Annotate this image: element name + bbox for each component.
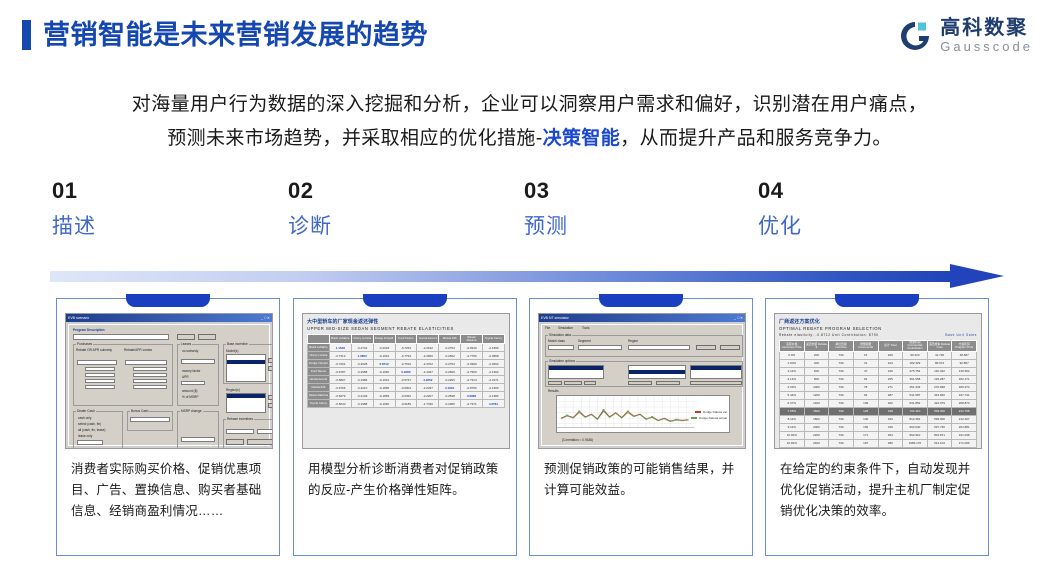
- matrix-cell: -0.8340: [461, 344, 483, 352]
- table-row: 10.02%2200790171364992.910801.871191.038: [780, 431, 977, 439]
- optimal-cell: 187: [853, 439, 878, 447]
- optimal-cell: 255: [878, 375, 903, 383]
- optimal-cell: 8.11%: [780, 415, 805, 423]
- select-purchase-2[interactable]: [125, 360, 167, 365]
- optimal-cell: 790: [829, 415, 854, 423]
- group-label-purchases: Purchases: [76, 342, 93, 346]
- optimal-cell: 1083.170: [903, 439, 928, 447]
- clear-button[interactable]: [226, 439, 244, 445]
- step-label: 描述: [52, 212, 252, 242]
- title-label: 营销智能是未来营销发展的趋势: [43, 20, 428, 50]
- matrix-cell: -2.2606: [417, 352, 439, 360]
- matrix-cell: -2.0602: [483, 360, 505, 368]
- matrix-cell: -0.5747: [395, 376, 417, 384]
- card-caption: 预测促销政策的可能销售结果，并计算可能效益。: [544, 459, 740, 501]
- matrix-cell: -2.2207: [417, 392, 439, 400]
- step-label: 优化: [758, 212, 958, 242]
- matrix-cell: -0.1660: [373, 400, 395, 408]
- get-data-button[interactable]: [696, 345, 716, 350]
- table-row: 11.84%26007902023951173.4391028.743144.6…: [780, 447, 977, 449]
- optimal-cell: 451.333: [903, 383, 928, 391]
- matrix-cell: -0.2018: [373, 344, 395, 352]
- graph-button[interactable]: [690, 381, 742, 385]
- card-optimize[interactable]: 厂商返还方案优化 OPTIMAL REBATE PROGRAM SELECTIO…: [765, 298, 989, 556]
- input-24mo-b[interactable]: [133, 367, 167, 371]
- select-rebase-model[interactable]: [226, 429, 254, 434]
- option-money-factor[interactable]: money factor: [182, 369, 200, 373]
- optimal-cell: 1600: [804, 407, 829, 415]
- logo-text-cn: 高科数聚: [940, 18, 1033, 39]
- matrix-col-header: Dodge Intrepid: [373, 335, 395, 344]
- table-row: 9.11%2000790156349902.640697.736204.881: [780, 423, 977, 431]
- optimal-cell: 790: [829, 399, 854, 407]
- card-tab-accent: [599, 294, 683, 307]
- table-row: Dodge Intrepid-0.7204-0.20280.8712-0.751…: [308, 360, 505, 368]
- table-row: 1.00%40079031224182.32989.67292.857: [780, 359, 977, 367]
- optimal-cell: 790: [829, 383, 854, 391]
- optimal-cell: 790: [829, 359, 854, 367]
- group-label-regions: Region(s): [226, 388, 240, 392]
- legend-label-est: Dodge Dakota est: [703, 410, 727, 414]
- brand-logo: 高科数聚 Gausscode: [897, 18, 1033, 54]
- page-title: 营销智能是未来营销发展的趋势: [22, 20, 428, 50]
- step-item-04: 04 优化: [758, 178, 958, 242]
- legend-item-est: Dodge Dakota est: [695, 410, 727, 414]
- optimal-cell: 109: [853, 399, 878, 407]
- optimal-cell: 270.848: [927, 383, 952, 391]
- window-title: EVB scenario: [68, 316, 89, 320]
- field-label-rebate-apr: Rebate OR APR subvedy: [76, 348, 112, 352]
- input-program-name[interactable]: [73, 334, 169, 340]
- clear-all-models-button[interactable]: [268, 366, 273, 371]
- chart-svg: [557, 396, 729, 432]
- matrix-cell: -2.1660: [483, 384, 505, 392]
- optimal-cell: 171: [853, 431, 878, 439]
- optimal-cell: 208.873: [952, 399, 977, 407]
- select-all-button[interactable]: [628, 381, 652, 385]
- select-rebase-region[interactable]: [257, 429, 273, 434]
- matrix-cell: 4.3252: [417, 376, 439, 384]
- matrix-cell: -0.1869: [373, 392, 395, 400]
- restore-environment-button[interactable]: [247, 439, 273, 445]
- matrix-col-header: Buick LeSabre: [329, 335, 351, 344]
- optimal-cell: 90.320: [903, 351, 928, 359]
- optimal-cell: 364: [878, 431, 903, 439]
- optimal-col-header: 增量利润 Incremental Contribution: [903, 341, 928, 352]
- matrix-cell: -0.6766: [329, 384, 351, 392]
- list-scenarios[interactable]: [548, 365, 604, 379]
- optimal-col-header: 单位贡献 Incentive: [829, 341, 854, 352]
- optimal-cell: 9.11%: [780, 423, 805, 431]
- optimal-cell: 200: [804, 351, 829, 359]
- input-36mo-a[interactable]: [85, 373, 115, 377]
- optimal-cell: 790: [829, 375, 854, 383]
- input-48mo-a[interactable]: [85, 379, 115, 383]
- card-predict[interactable]: EVB NT simulator_ □ ✕ File Simulation To…: [529, 298, 753, 556]
- matrix-cell: -0.7204: [329, 360, 351, 368]
- save-button[interactable]: [177, 334, 195, 340]
- legend-item-actual: Dodge Dakota actual: [691, 416, 727, 420]
- optimal-cell: 180.374: [952, 383, 977, 391]
- screenshot-program-dialog: EVB scenario_ □ ✕ Program Description Pu…: [65, 313, 273, 449]
- menu-simulation[interactable]: Simulation: [558, 326, 573, 330]
- optimal-cell: 209: [878, 351, 903, 359]
- card-list: EVB scenario_ □ ✕ Program Description Pu…: [0, 298, 1051, 560]
- matrix-cell: -0.7371: [461, 400, 483, 408]
- optimal-cell: 509.300: [927, 407, 952, 415]
- matrix-cell: 1.2823: [351, 352, 373, 360]
- optimal-cell: 7.55%: [780, 407, 805, 415]
- option-amount[interactable]: amount ($): [182, 389, 197, 393]
- optimal-cell: 6.37%: [780, 399, 805, 407]
- optimal-cell: 395: [878, 447, 903, 449]
- optimal-cell: 992.910: [903, 431, 928, 439]
- clear-all-button[interactable]: [656, 381, 680, 385]
- matrix-col-header: Chevy Lumina: [351, 335, 373, 344]
- add-button[interactable]: [548, 381, 562, 385]
- optimal-cell: 197.741: [952, 391, 977, 399]
- matrix-cell: 2.1091: [439, 384, 461, 392]
- edit-button[interactable]: [584, 381, 596, 385]
- matrix-cell: -0.7313: [329, 352, 351, 360]
- optimal-cell: 422.979: [927, 399, 952, 407]
- optimal-cell: 136.502: [952, 367, 977, 375]
- optimal-cell: 800: [804, 375, 829, 383]
- option-select-cash-fin[interactable]: select (cash, fin): [78, 422, 101, 426]
- matrix-cell: -0.8766: [461, 384, 483, 392]
- table-row: Ford Taurus-0.6787-0.2588-0.19600.9480-2…: [308, 368, 505, 376]
- table-row: Buick LeSabre1.1548-0.2742-0.2018-0.7254…: [308, 344, 505, 352]
- legend-swatch-est: [695, 411, 701, 413]
- optimal-col-header: 增量销量 Incremental: [853, 341, 878, 352]
- matrix-row-header: Honda Accord: [308, 376, 330, 384]
- matrix-cell: -0.7254: [395, 344, 417, 352]
- label-region: Region: [628, 339, 638, 343]
- matrix-cell: 1.1548: [329, 344, 351, 352]
- screenshot-optimal-rebate: 厂商返还方案优化 OPTIMAL REBATE PROGRAM SELECTIO…: [774, 313, 982, 449]
- optimal-cell: 182.329: [903, 359, 928, 367]
- select-dealer-cash[interactable]: [77, 440, 103, 445]
- select-model-class[interactable]: [548, 345, 574, 350]
- optimal-cell: 48.687: [952, 351, 977, 359]
- card-tab-accent: [363, 294, 447, 307]
- matrix-row-header: Ford Taurus: [308, 368, 330, 376]
- gausscode-g-logo-icon: [897, 18, 933, 54]
- label-model-class: Model class: [548, 339, 565, 343]
- optimal-cell: 140.342: [927, 367, 952, 375]
- optimal-cell: 361.058: [903, 375, 928, 383]
- optimal-cell: 10.02%: [780, 431, 805, 439]
- optimal-cell: 11.84%: [780, 447, 805, 449]
- matrix-row-header: Buick LeSabre: [308, 344, 330, 352]
- card-caption: 消费者实际购买价格、促销优惠项目、广告、置换信息、购买者基础信息、经销商盈利情况…: [71, 459, 267, 522]
- select-region[interactable]: [628, 345, 690, 350]
- optimal-cell: 790: [829, 351, 854, 359]
- optimal-col-header: 实际价格 Consumer Price: [780, 341, 805, 352]
- optimal-cell: 333: [878, 415, 903, 423]
- optimal-cell: 224: [878, 359, 903, 367]
- clear-all-regions-button[interactable]: [268, 403, 273, 408]
- matrix-cell: -0.5640: [329, 400, 351, 408]
- menu-file[interactable]: File: [545, 326, 550, 330]
- matrix-col-header: Toyota Camry: [483, 335, 505, 344]
- card-diagnose[interactable]: 大中型轿车的厂家现金返还弹性 UPPER MID-SIZE SEDAN SEGM…: [293, 298, 517, 556]
- step-number: 02: [288, 178, 488, 204]
- optimal-cell: 790: [829, 439, 854, 447]
- group-label-results: Results: [548, 389, 559, 393]
- option-apr[interactable]: APR: [182, 375, 189, 379]
- step-number: 01: [52, 178, 252, 204]
- matrix-row-header: Mazda 626: [308, 384, 330, 392]
- title-accent-bar: [22, 20, 31, 50]
- legend-swatch-actual: [691, 417, 697, 419]
- matrix-cell: -0.7766: [461, 352, 483, 360]
- optimal-cell: 204.881: [952, 423, 977, 431]
- group-label-rebase-incentives: Rebase incentives: [226, 417, 254, 421]
- optimal-cell: 599.906: [927, 415, 952, 423]
- matrix-cell: -0.2794: [439, 360, 461, 368]
- optimal-title-cn: 厂商返还方案优化: [779, 318, 977, 325]
- matrix-cell: -2.3702: [417, 360, 439, 368]
- optimal-meta-left: Rebate elasticity: -0.8712 Unit Contribu…: [779, 333, 878, 337]
- optimal-cell: 541.587: [903, 391, 928, 399]
- select-segment[interactable]: [578, 345, 622, 350]
- matrix-cell: -2.2271: [483, 376, 505, 384]
- option-cash-only[interactable]: cash only: [78, 416, 91, 420]
- table-row: 2.11%60079047240275.754140.342136.502: [780, 367, 977, 375]
- card-describe[interactable]: EVB scenario_ □ ✕ Program Description Pu…: [56, 298, 280, 556]
- optimal-cell: 400: [804, 359, 829, 367]
- table-row: 4.33%100079078271451.333270.848180.374: [780, 383, 977, 391]
- matrix-cell: -0.6362: [395, 392, 417, 400]
- optimal-cell: 191.038: [952, 431, 977, 439]
- optimal-cell: 41.730: [927, 351, 952, 359]
- optimal-cell: 92.857: [952, 359, 977, 367]
- matrix-row-header: Nissan Maxima: [308, 392, 330, 400]
- optimal-cell: 1.00%: [780, 359, 805, 367]
- select-all-models-button[interactable]: [268, 358, 273, 363]
- step-number: 04: [758, 178, 958, 204]
- optimal-cell: 144.696: [952, 447, 977, 449]
- card-caption: 用模型分析诊断消费者对促销政策的反应-产生价格弹性矩阵。: [308, 459, 504, 501]
- screenshot-elasticity-matrix: 大中型轿车的厂家现金返还弹性 UPPER MID-SIZE SEDAN SEGM…: [302, 313, 510, 449]
- matrix-cell: -0.7510: [395, 360, 417, 368]
- slide-header: 营销智能是未来营销发展的趋势 高科数聚 Gausscode: [0, 0, 1051, 72]
- optimal-col-header: 返还金额 Rebate $: [804, 341, 829, 352]
- optimal-cell: 631.852: [903, 399, 928, 407]
- matrix-cell: -0.6904: [395, 384, 417, 392]
- optimal-cell: 171.066: [952, 439, 977, 447]
- matrix-cell: 0.8712: [373, 360, 395, 368]
- progress-arrow: [50, 264, 1010, 288]
- matrix-cell: -0.2669: [439, 368, 461, 376]
- optimal-cell: 31: [853, 359, 878, 367]
- optimal-cell: 349: [878, 423, 903, 431]
- matrix-cell: -2.2192: [417, 344, 439, 352]
- matrix-col-header: Honda Accord: [417, 335, 439, 344]
- optimal-cell: 194.287: [927, 375, 952, 383]
- menu-tools[interactable]: Tools: [582, 326, 589, 330]
- lead-paragraph: 对海量用户行为数据的深入挖掘和分析，企业可以洞察用户需求和偏好，识别潜在用户痛点…: [52, 88, 1007, 156]
- option-lease-only[interactable]: lease only: [78, 434, 92, 438]
- optimal-cell: 202: [853, 447, 878, 449]
- table-row: 0.0%2007901520990.32041.73048.687: [780, 351, 977, 359]
- optimal-cell: 318: [878, 407, 903, 415]
- optimal-cell: 1200: [804, 391, 829, 399]
- table-row: Mazda 626-0.6766-0.2210-0.1895-0.6904-2.…: [308, 384, 505, 392]
- optimal-title-en: OPTIMAL REBATE PROGRAM SELECTION: [779, 326, 977, 331]
- optimal-cell: 2600: [804, 447, 829, 449]
- optimal-cell: 1800: [804, 415, 829, 423]
- optimal-cell: 125: [853, 407, 878, 415]
- optimal-rebate-table: 实际价格 Consumer Price返还金额 Rebate $单位贡献 Inc…: [779, 340, 977, 449]
- matrix-col-header: Mazda 626: [439, 335, 461, 344]
- screenshot-simulation: EVB NT simulator_ □ ✕ File Simulation To…: [538, 313, 746, 449]
- step-item-02: 02 诊断: [288, 178, 488, 242]
- field-label-rebate-combo: Rebate/APR combo: [124, 348, 152, 352]
- matrix-cell: -0.2210: [351, 384, 373, 392]
- slide-root: 营销智能是未来营销发展的趋势 高科数聚 Gausscode 对海量用户行为数据的…: [0, 0, 1051, 586]
- optimal-meta-right: Base Unit Sales: [945, 333, 977, 337]
- option-all-cash-fin-lease[interactable]: all (cash, fin, lease): [78, 428, 105, 432]
- matrix-cell: -2.1497: [417, 368, 439, 376]
- step-label: 诊断: [288, 212, 488, 242]
- optimal-cell: 2400: [804, 439, 829, 447]
- matrix-cell: -0.2293: [439, 376, 461, 384]
- matrix-cell: -0.2028: [351, 360, 373, 368]
- optimal-cell: 2.11%: [780, 367, 805, 375]
- matrix-cell: -0.1960: [373, 368, 395, 376]
- option-pct-msrp[interactable]: % of MSRP: [182, 395, 198, 399]
- matrix-cell: -0.2380: [439, 400, 461, 408]
- matrix-cell: -0.1642: [373, 376, 395, 384]
- matrix-cell: -2.1902: [483, 368, 505, 376]
- input-24mo-a[interactable]: [85, 367, 115, 371]
- matrix-cell: 0.6986: [461, 392, 483, 400]
- table-row: 7.55%1600790125318722.110509.300212.768: [780, 407, 977, 415]
- optimal-col-header: 总计 Total: [878, 341, 903, 352]
- lead-line-2: 预测未来市场趋势，并采取相应的优化措施-决策智能，从而提升产品和服务竞争力。: [52, 122, 1007, 156]
- prediction-chart: Dodge Dakota est Dodge Dakota actual: [556, 395, 730, 433]
- matrix-cell: -0.2602: [439, 352, 461, 360]
- table-row: 8.11%1800790140333812.381599.906212.467: [780, 415, 977, 423]
- matrix-cell: -0.7314: [461, 376, 483, 384]
- optimal-cell: 62: [853, 375, 878, 383]
- close-button[interactable]: [198, 334, 216, 340]
- optimal-cell: 2200: [804, 431, 829, 439]
- step-label: 预测: [524, 212, 724, 242]
- input-48mo-b[interactable]: [133, 379, 167, 383]
- lead-highlight: 决策智能: [543, 128, 621, 149]
- option-no-subvedy[interactable]: no subvedy: [182, 349, 198, 353]
- matrix-cell: -0.1986: [351, 376, 373, 384]
- input-lease-rate[interactable]: [181, 381, 205, 385]
- list-regions[interactable]: [226, 393, 266, 413]
- list-outputs[interactable]: [690, 365, 742, 379]
- matrix-cell: -2.2337: [417, 384, 439, 392]
- input-60mo-b[interactable]: [133, 385, 167, 389]
- optimal-cell: 5.44%: [780, 391, 805, 399]
- label-segment: Segment: [578, 339, 591, 343]
- optimal-cell: 302: [878, 399, 903, 407]
- optimal-cell: 912.104: [927, 439, 952, 447]
- optimal-cell: 182.171: [952, 375, 977, 383]
- list-models[interactable]: [226, 354, 266, 382]
- matrix-cell: -2.1896: [483, 344, 505, 352]
- optimal-cell: 790: [829, 367, 854, 375]
- optimal-cell: 801.871: [927, 431, 952, 439]
- window-title: EVB NT simulator: [541, 316, 569, 320]
- optimal-cell: 812.381: [903, 415, 928, 423]
- logo-text-en: Gausscode: [940, 39, 1033, 54]
- group-label-leases: Leases: [180, 342, 192, 346]
- matrix-cell: -0.1895: [373, 384, 395, 392]
- optimal-cell: 271: [878, 383, 903, 391]
- matrix-cell: -0.7793: [395, 352, 417, 360]
- optimal-cell: 0.0%: [780, 351, 805, 359]
- matrix-cell: -0.6679: [329, 392, 351, 400]
- select-lease-cash[interactable]: [181, 359, 215, 364]
- optimal-cell: 1400: [804, 399, 829, 407]
- table-row: 10.93%24007901873801083.170912.104171.06…: [780, 439, 977, 447]
- optimal-cell: 94: [853, 391, 878, 399]
- matrix-cell: 0.9480: [395, 368, 417, 376]
- elasticity-table: Buick LeSabreChevy LuminaDodge IntrepidF…: [307, 334, 505, 408]
- optimal-cell: 790: [829, 431, 854, 439]
- optimal-cell: 275.754: [903, 367, 928, 375]
- group-label-dealer-cash: Dealer Cash: [76, 409, 96, 413]
- optimal-cell: 600: [804, 367, 829, 375]
- matrix-cell: -0.6189: [395, 400, 417, 408]
- matrix-cell: -0.6787: [329, 368, 351, 376]
- list-models[interactable]: [628, 365, 686, 379]
- remove-button[interactable]: [564, 381, 582, 385]
- optimal-cell: 380: [878, 439, 903, 447]
- optimal-cell: 156: [853, 423, 878, 431]
- matrix-row-header: Toyota Camry: [308, 400, 330, 408]
- input-60mo-a[interactable]: [85, 385, 115, 389]
- optimal-cell: 140: [853, 415, 878, 423]
- optimal-cell: 89.672: [927, 359, 952, 367]
- matrix-cell: -2.1982: [483, 392, 505, 400]
- input-msrp-change[interactable]: [181, 437, 215, 442]
- select-all-regions-button[interactable]: [268, 395, 273, 400]
- optimal-cell: 722.110: [903, 407, 928, 415]
- matrix-cell: -0.2588: [351, 368, 373, 376]
- step-list: 01 描述 02 诊断 03 预测 04 优化: [52, 178, 1012, 250]
- card-tab-accent: [126, 294, 210, 307]
- optimal-cell: 1000: [804, 383, 829, 391]
- matrix-col-header: Nissan Maxima: [461, 335, 483, 344]
- select-bonus-cash[interactable]: [130, 417, 170, 422]
- matrix-cell: -2.0808: [483, 352, 505, 360]
- select-purchase-1[interactable]: [77, 360, 117, 365]
- group-label-simulation-options: Simulation options: [548, 359, 576, 363]
- matrix-cell: 4.2561: [483, 400, 505, 408]
- optimal-cell: 3.14%: [780, 375, 805, 383]
- card-tab-accent: [835, 294, 919, 307]
- matrix-cell: -0.7500: [461, 368, 483, 376]
- group-label-program-description: Program Description: [73, 328, 105, 332]
- optimal-cell: 1028.743: [927, 447, 952, 449]
- optimal-cell: 790: [829, 423, 854, 431]
- table-row: 3.14%80079062255361.058194.287182.171: [780, 375, 977, 383]
- matrix-cell: -0.1991: [373, 352, 395, 360]
- stop-button[interactable]: [720, 345, 740, 350]
- matrix-cell: -0.2742: [351, 344, 373, 352]
- optimal-cell: 78: [853, 383, 878, 391]
- input-36mo-b[interactable]: [133, 373, 167, 377]
